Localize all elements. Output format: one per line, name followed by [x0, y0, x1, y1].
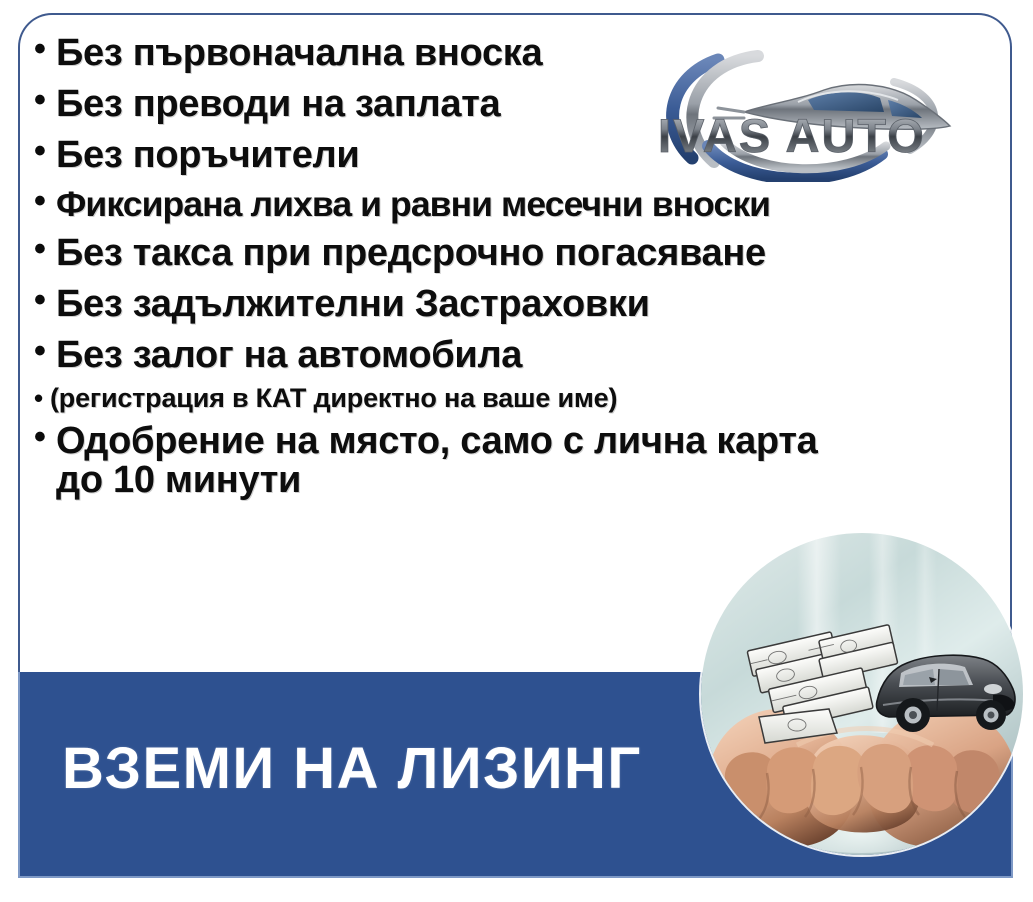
ivas-auto-logo: IVAS AUTO — [648, 42, 978, 182]
list-item: • Без залог на автомобила — [34, 336, 1009, 375]
bullet-marker-icon: • — [34, 285, 56, 316]
list-item: • Фиксирана лихва и равни месечни вноски — [34, 186, 1009, 222]
list-item: • Без задължителни Застраховки — [34, 285, 1009, 324]
list-item-note: • (регистрация в КАТ директно на ваше им… — [34, 385, 1009, 413]
bullet-marker-icon: • — [34, 136, 56, 167]
bullet-marker-icon: • — [34, 385, 50, 412]
bullet-marker-icon: • — [34, 234, 56, 265]
list-item-label: Фиксирана лихва и равни месечни вноски — [56, 186, 1009, 222]
list-item-note-label: (регистрация в КАТ директно на ваше име) — [50, 385, 1009, 413]
hands-money-car-photo — [701, 533, 1023, 855]
bullet-marker-icon: • — [34, 336, 56, 367]
bullet-marker-icon: • — [34, 34, 56, 65]
svg-text:IVAS AUTO: IVAS AUTO — [658, 109, 926, 162]
bullet-marker-icon: • — [34, 186, 56, 217]
list-item-label: Одобрение на място, само с лична карта д… — [56, 422, 1009, 500]
poster-root: IVAS AUTO • Без първоначална вноска • Бе… — [0, 0, 1033, 902]
bullet-marker-icon: • — [34, 422, 56, 453]
cta-banner-label: ВЗЕМИ НА ЛИЗИНГ — [62, 728, 702, 810]
list-item: • Одобрение на място, само с лична карта… — [34, 422, 1009, 500]
list-item: • Без такса при предсрочно погасяване — [34, 234, 1009, 273]
bullet-marker-icon: • — [34, 85, 56, 116]
list-item-label: Без такса при предсрочно погасяване — [56, 234, 1009, 273]
list-item-label: Без задължителни Застраховки — [56, 285, 1009, 324]
list-item-label: Без залог на автомобила — [56, 336, 1009, 375]
